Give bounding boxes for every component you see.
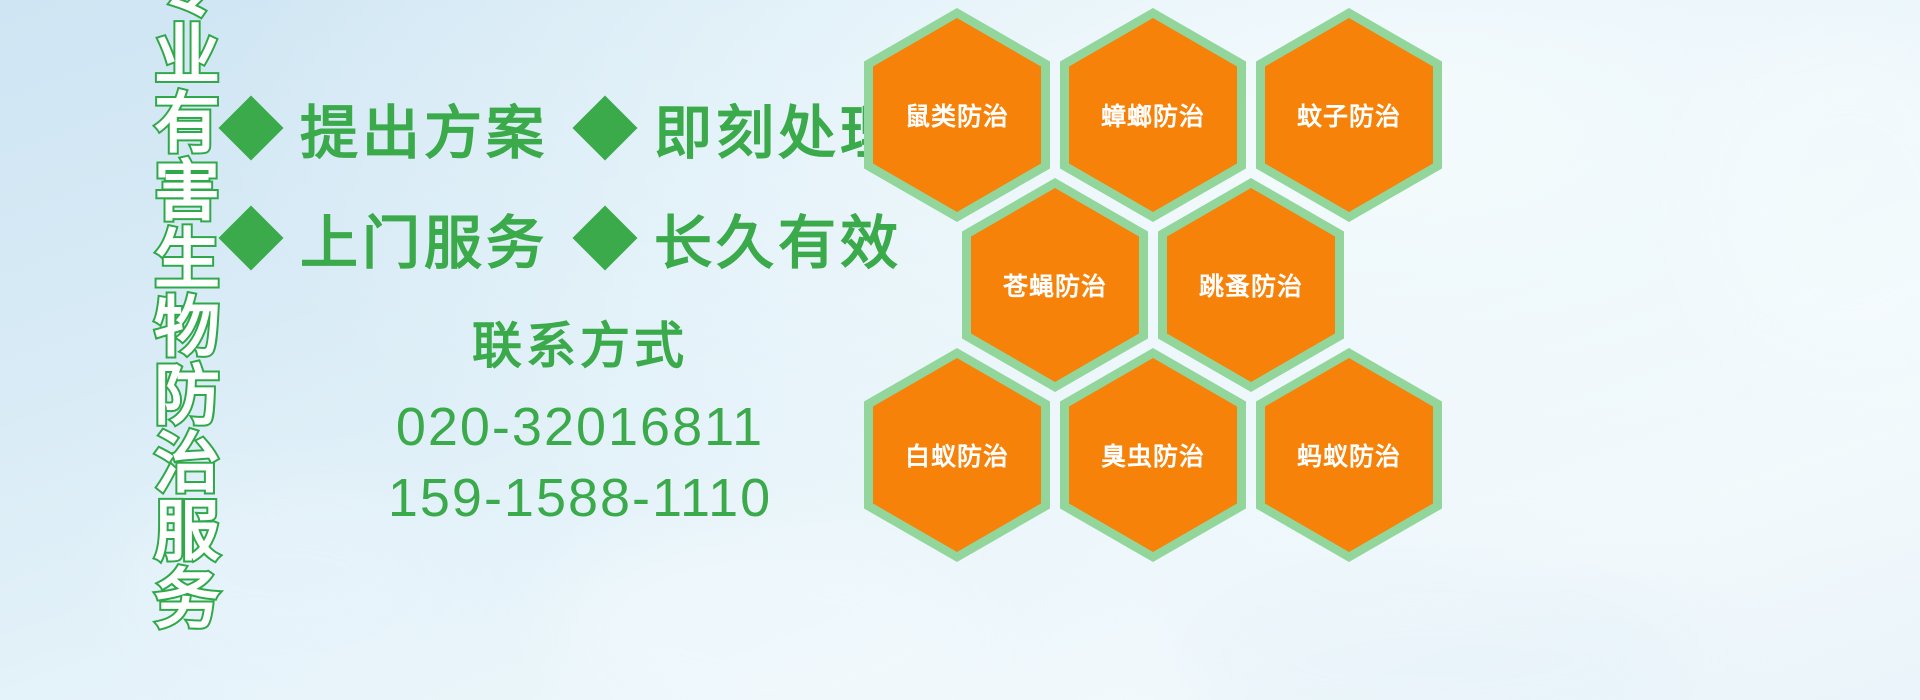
slogan-row-2: 上门服务 长久有效 bbox=[228, 196, 902, 280]
hex-label: 白蚁防治 bbox=[905, 437, 1009, 473]
hex-inner: 苍蝇防治 bbox=[971, 188, 1139, 382]
hex-inner: 臭虫防治 bbox=[1069, 358, 1237, 552]
diamond-icon bbox=[218, 205, 283, 270]
hex-label: 臭虫防治 bbox=[1101, 437, 1205, 473]
diamond-icon bbox=[572, 205, 637, 270]
hex-cell-rodent-control[interactable]: 鼠类防治 bbox=[864, 8, 1050, 222]
slogan-item-immediate-handling: 即刻处理 bbox=[582, 86, 902, 170]
hex-inner: 蟑螂防治 bbox=[1069, 18, 1237, 212]
hex-cell-cockroach-control[interactable]: 蟑螂防治 bbox=[1060, 8, 1246, 222]
vertical-headline: 专业有害生物防治服务 bbox=[112, 12, 216, 572]
pest-control-banner: 专业有害生物防治服务 提出方案 即刻处理 上门服务 长久有效 联系方式 020-… bbox=[0, 0, 1920, 700]
diamond-icon bbox=[218, 95, 283, 160]
hex-inner: 白蚁防治 bbox=[873, 358, 1041, 552]
hex-label: 蚊子防治 bbox=[1297, 97, 1401, 133]
hex-label: 蟑螂防治 bbox=[1101, 97, 1205, 133]
hex-inner: 鼠类防治 bbox=[873, 18, 1041, 212]
hex-cell-termite-control[interactable]: 白蚁防治 bbox=[864, 348, 1050, 562]
slogan-row-1: 提出方案 即刻处理 bbox=[228, 86, 902, 170]
contact-label: 联系方式 bbox=[300, 316, 860, 376]
phone-mobile[interactable]: 159-1588-1110 bbox=[300, 463, 860, 534]
service-honeycomb: 鼠类防治 蟑螂防治 蚊子防治 苍蝇防治 跳蚤防治 白蚁防治 bbox=[856, 0, 1476, 700]
hex-label: 鼠类防治 bbox=[905, 97, 1009, 133]
slogan-item-propose-plan: 提出方案 bbox=[228, 86, 548, 170]
hex-label: 苍蝇防治 bbox=[1003, 267, 1107, 303]
contact-block: 联系方式 020-32016811 159-1588-1110 bbox=[300, 316, 860, 535]
slogan-label: 提出方案 bbox=[300, 86, 548, 170]
hex-inner: 蚂蚁防治 bbox=[1265, 358, 1433, 552]
diamond-icon bbox=[572, 95, 637, 160]
slogan-label: 上门服务 bbox=[300, 196, 548, 280]
hex-inner: 跳蚤防治 bbox=[1167, 188, 1335, 382]
phone-landline[interactable]: 020-32016811 bbox=[300, 392, 860, 463]
slogan-item-long-lasting-effect: 长久有效 bbox=[582, 196, 902, 280]
slogan-item-door-to-door-service: 上门服务 bbox=[228, 196, 548, 280]
hex-inner: 蚊子防治 bbox=[1265, 18, 1433, 212]
hex-cell-mosquito-control[interactable]: 蚊子防治 bbox=[1256, 8, 1442, 222]
hex-cell-flea-control[interactable]: 跳蚤防治 bbox=[1158, 178, 1344, 392]
hex-cell-ant-control[interactable]: 蚂蚁防治 bbox=[1256, 348, 1442, 562]
background-blob bbox=[1700, 40, 1920, 380]
hex-cell-fly-control[interactable]: 苍蝇防治 bbox=[962, 178, 1148, 392]
hex-label: 跳蚤防治 bbox=[1199, 267, 1303, 303]
hex-cell-bedbug-control[interactable]: 臭虫防治 bbox=[1060, 348, 1246, 562]
hex-label: 蚂蚁防治 bbox=[1297, 437, 1401, 473]
